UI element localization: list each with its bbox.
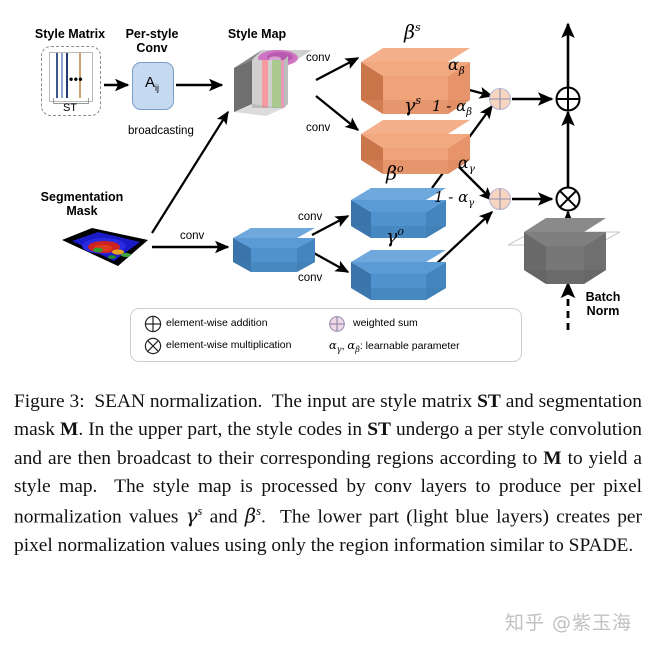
style-matrix-ellipsis: ••• [69,72,83,86]
watermark: 知乎 @紫玉海 [505,608,632,635]
weighted-sum-icon-beta [490,89,511,110]
legend-row-weighted-sum: weighted sum [353,317,418,329]
gamma-s-label: γs [404,95,421,117]
figure-caption: Figure 3: SEAN normalization. The input … [14,388,642,560]
figure-page: ••• ST Aij Style Matrix Per-style Conv S… [0,0,656,653]
weighted-sum-icon-gamma [490,189,511,210]
one-minus-alpha-gamma-label: 1 - αγ [434,189,474,209]
style-matrix-title: Style Matrix [21,27,119,41]
beta-s-label: βs [404,22,421,44]
gamma-o-cube [351,250,446,300]
circled-times-icon [145,338,160,353]
per-style-conv-title-line2: Conv [121,41,183,55]
style-map-cube [234,50,312,116]
batch-norm-label-line1: Batch [574,290,632,304]
broadcasting-label: broadcasting [128,125,194,138]
batch-norm-label-line2: Norm [574,304,632,318]
conv-label-gamma-s: conv [306,122,330,135]
segmentation-mask-title-line2: Mask [24,204,140,218]
legend-row-multiplication: element-wise multiplication [166,339,291,351]
conv-label-beta-s: conv [306,52,330,65]
alpha-beta-label: αβ [448,56,465,77]
style-matrix-symbol: ST [53,102,87,114]
mask-conv-cube [233,228,315,272]
per-style-conv-symbol: Aij [132,74,172,93]
circled-plus-icon [557,88,580,111]
segmentation-mask-thumbnail [62,228,148,266]
legend-row-addition: element-wise addition [166,317,268,329]
segmentation-mask-title-line1: Segmentation [24,190,140,204]
circled-times-icon [557,188,580,211]
style-map-title: Style Map [212,27,302,41]
style-matrix-stripe [61,53,63,98]
per-style-conv-title-line1: Per-style [121,27,183,41]
filled-circled-plus-icon [330,317,345,332]
gamma-o-label: γo [386,226,404,248]
style-matrix-stripe [66,53,68,98]
gamma-s-cube [361,120,470,174]
legend-row-learnable-parameter: αγ, αβ: learnable parameter [329,338,460,354]
sean-normalization-diagram: ••• ST Aij Style Matrix Per-style Conv S… [0,0,656,375]
legend-box: element-wise addition element-wise multi… [130,308,522,362]
circled-plus-icon [145,316,160,331]
style-matrix-stripe [56,53,58,98]
one-minus-alpha-beta-label: 1 - αβ [432,98,472,118]
conv-label-beta-o: conv [298,211,322,224]
batch-norm-cube [508,218,620,284]
conv-label-gamma-o: conv [298,272,322,285]
beta-o-label: βo [386,163,404,185]
conv-label-mask: conv [180,230,204,243]
alpha-gamma-label: αγ [458,154,475,175]
